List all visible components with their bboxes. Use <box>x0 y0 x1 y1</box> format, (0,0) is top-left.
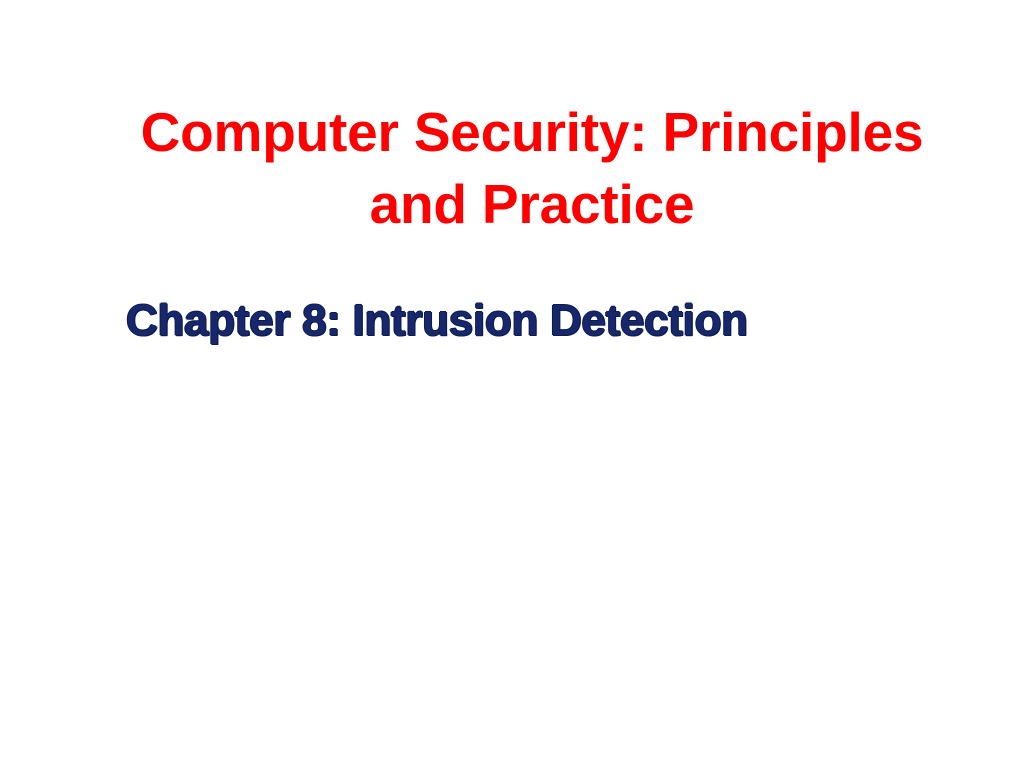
slide-title-placeholder: Computer Security: Principles and Practi… <box>112 96 952 240</box>
presentation-slide: Computer Security: Principles and Practi… <box>0 0 1024 768</box>
slide-subtitle-placeholder: Chapter 8: Intrusion Detection <box>126 296 916 346</box>
slide-content-area <box>0 380 1024 768</box>
page-title: Computer Security: Principles and Practi… <box>112 96 952 240</box>
chapter-subtitle: Chapter 8: Intrusion Detection <box>126 296 916 346</box>
